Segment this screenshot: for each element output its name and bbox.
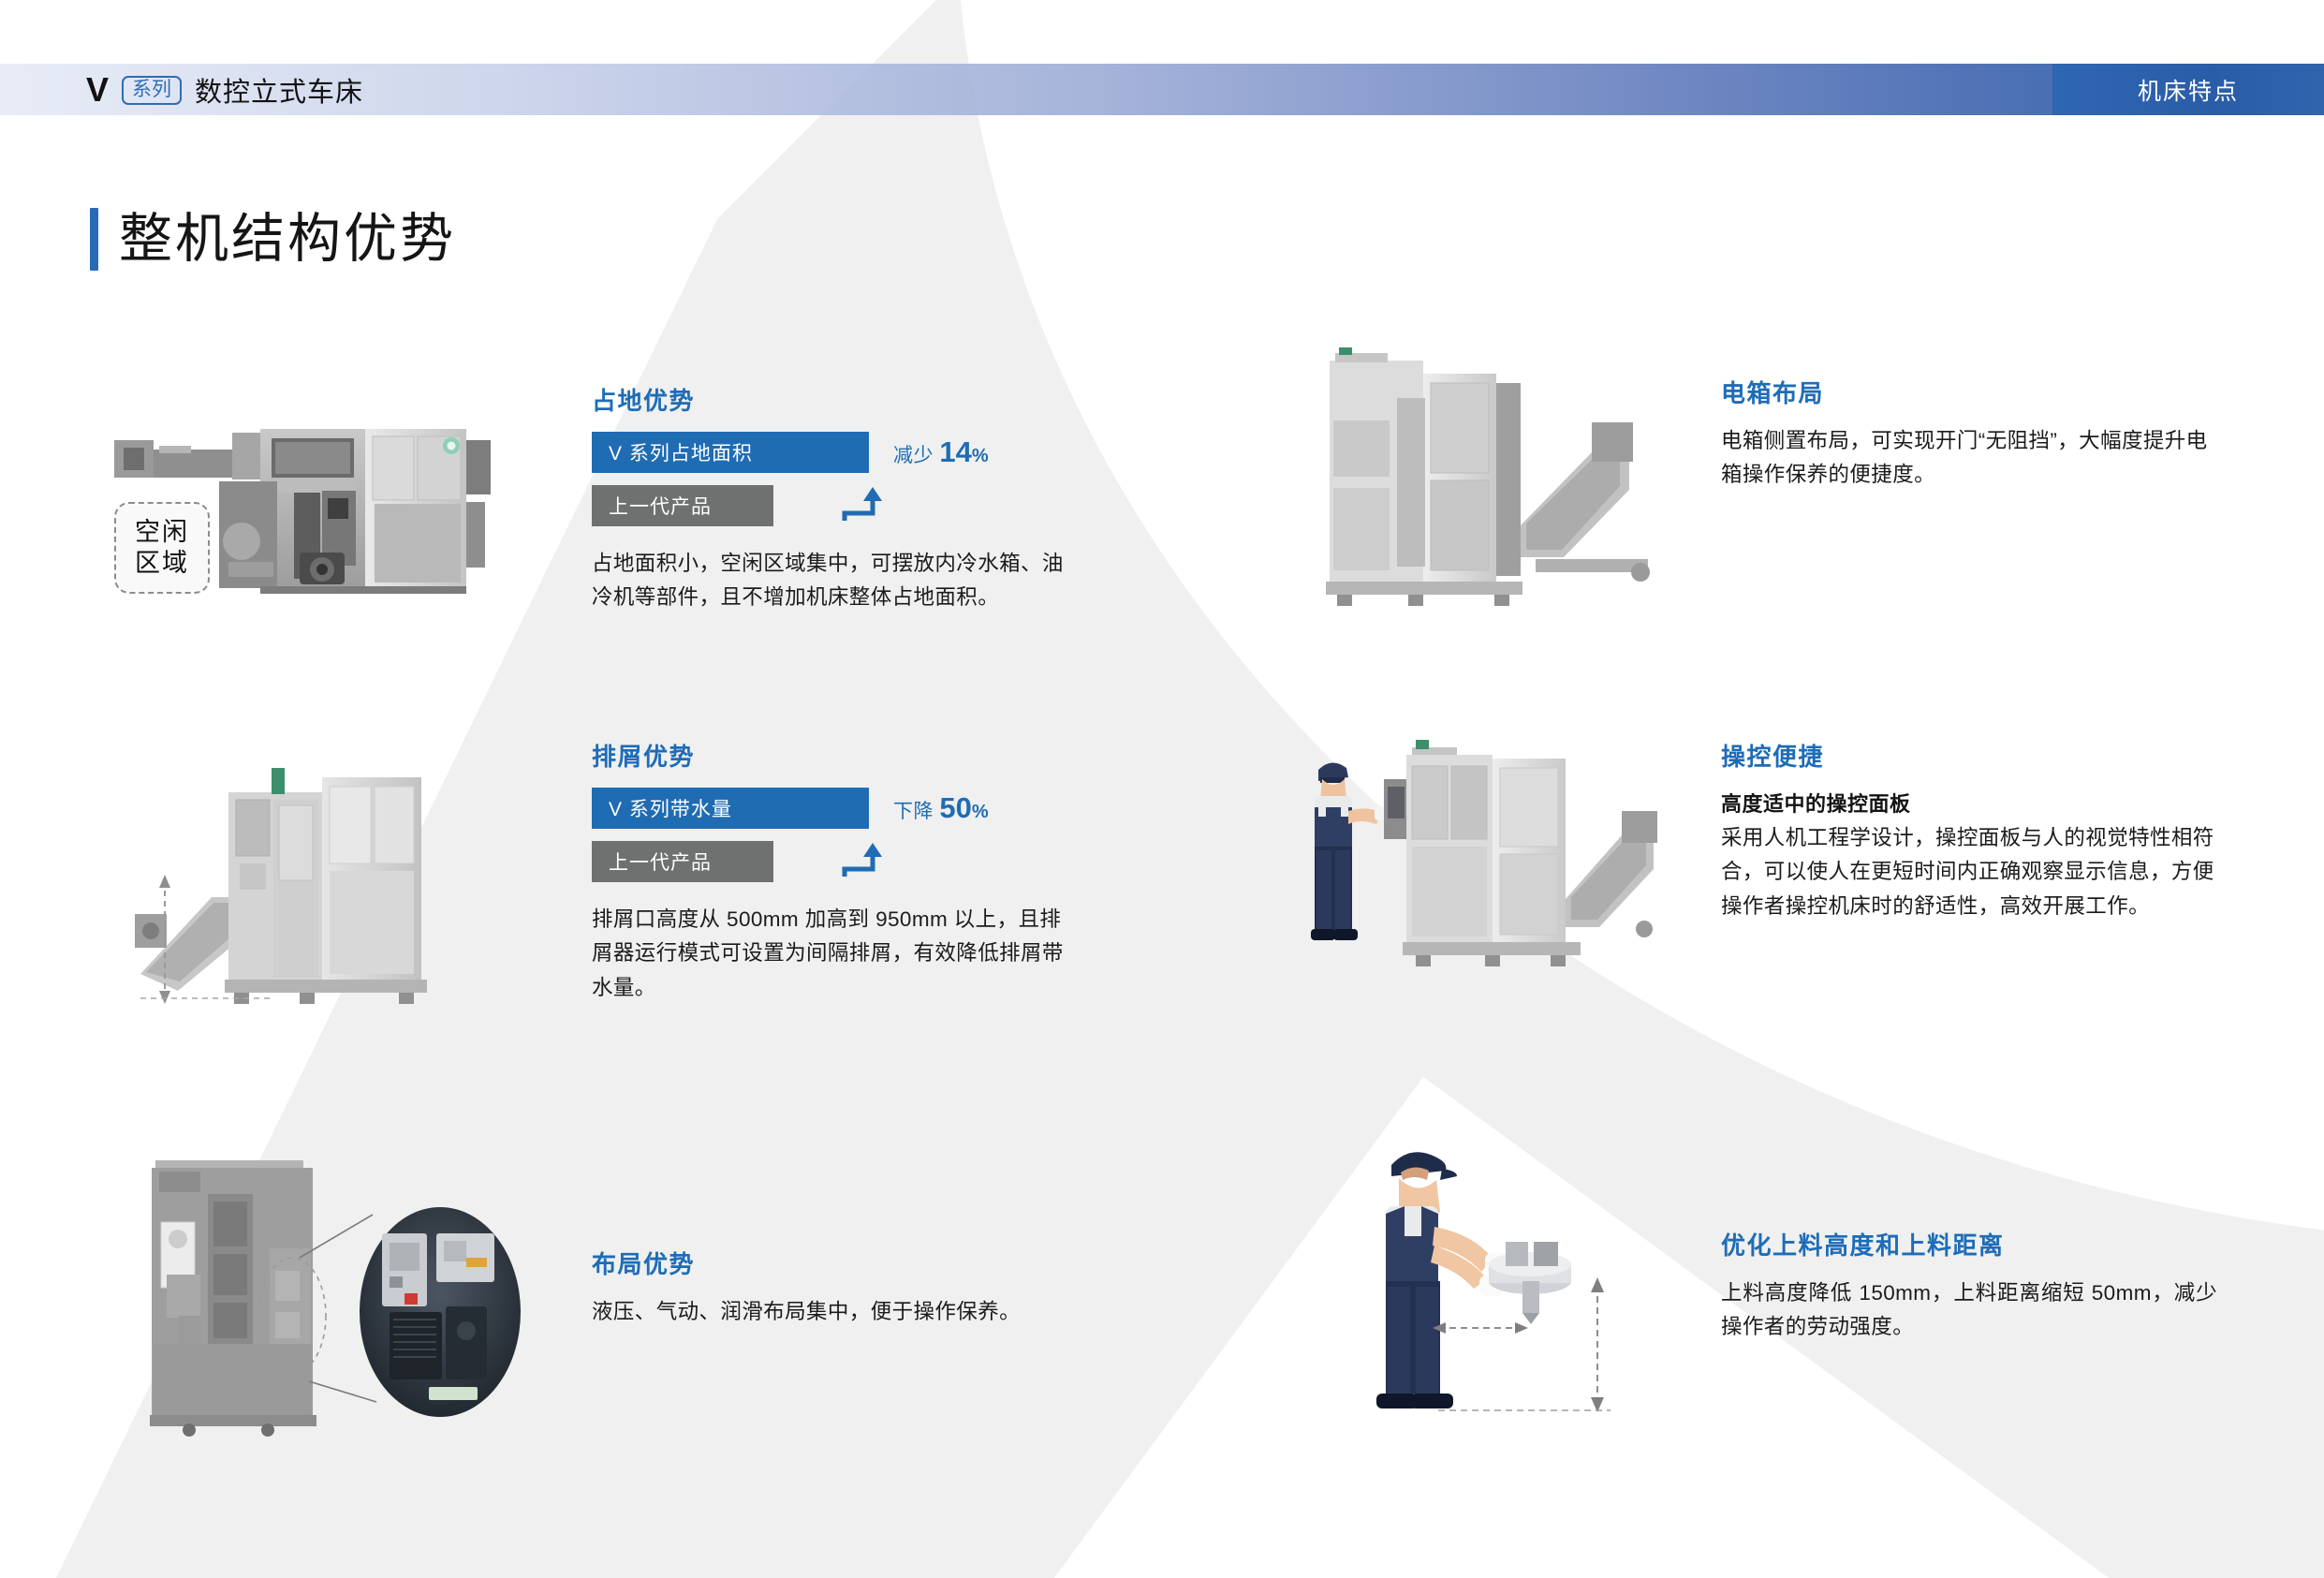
bar-annotation-prefix: 下降 (893, 801, 934, 822)
operator-loading-illustration (1348, 1124, 1685, 1461)
block-layout-body: 液压、气动、润滑布局集中，便于操作保养。 (592, 1295, 1079, 1329)
bar-annotation-unit: % (972, 802, 989, 822)
series-chip: 系列 (122, 76, 182, 105)
page-title: 整机结构优势 (90, 208, 456, 271)
operator-at-panel-illustration (1302, 721, 1676, 1002)
block-footprint: 占地优势 V 系列占地面积 减少 14% 上一代产品 占地面积小，空闲区域集 (592, 382, 1079, 615)
idle-area-callout: 空闲 区域 (114, 502, 210, 594)
block-chip-removal-chart: V 系列带水量 下降 50% 上一代产品 (592, 788, 1079, 882)
block-loading: 优化上料高度和上料距离 上料高度降低 150mm，上料距离缩短 50mm，减少操… (1721, 1227, 2217, 1345)
operator-figure (1311, 762, 1388, 940)
block-loading-heading: 优化上料高度和上料距离 (1721, 1227, 2217, 1261)
machine-cabinet-illustration (1311, 342, 1685, 623)
bar-annotation-prefix: 减少 (893, 445, 934, 466)
bar-annotation-value: 50 (939, 791, 971, 824)
block-electrical-cabinet: 电箱布局 电箱侧置布局，可实现开门“无阻挡”，大幅度提升电箱操作保养的便捷度。 (1721, 375, 2217, 493)
block-operation-body: 采用人机工程学设计，操控面板与人的视觉特性相符合，可以使人在更短时间内正确观察显… (1721, 821, 2217, 923)
block-loading-body: 上料高度降低 150mm，上料距离缩短 50mm，减少操作者的劳动强度。 (1721, 1276, 2217, 1345)
block-layout: 布局优势 液压、气动、润滑布局集中，便于操作保养。 (592, 1246, 1079, 1329)
idle-area-line2: 区域 (135, 548, 189, 579)
page-title-accent-bar (90, 208, 98, 271)
block-footprint-body: 占地面积小，空闲区域集中，可摆放内冷水箱、油冷机等部件，且不增加机床整体占地面积… (592, 547, 1079, 615)
block-operation-heading: 操控便捷 (1721, 738, 2217, 773)
header-brand-group: V 系列 数控立式车床 (86, 66, 363, 114)
block-electrical-cabinet-body: 电箱侧置布局，可实现开门“无阻挡”，大幅度提升电箱操作保养的便捷度。 (1721, 424, 2217, 493)
bar-current: V 系列占地面积 (592, 432, 869, 473)
block-electrical-cabinet-heading: 电箱布局 (1721, 375, 2217, 409)
page-title-text: 整机结构优势 (119, 208, 456, 271)
idle-area-line1: 空闲 (135, 517, 189, 548)
bar-annotation: 下降 50% (893, 791, 989, 825)
block-chip-removal-body: 排屑口高度从 500mm 加高到 950mm 以上，且排屑器运行模式可设置为间隔… (592, 903, 1079, 1005)
improvement-arrow-icon (841, 841, 899, 882)
bar-annotation-unit: % (972, 446, 989, 466)
block-operation-subheading: 高度适中的操控面板 (1721, 788, 2217, 818)
machine-rear-view-illustration (131, 1157, 524, 1438)
bar-annotation-value: 14 (939, 435, 971, 468)
product-title: 数控立式车床 (195, 70, 363, 110)
improvement-arrow-icon (841, 485, 899, 526)
block-layout-heading: 布局优势 (592, 1246, 1079, 1280)
bar-current: V 系列带水量 (592, 788, 869, 829)
block-chip-removal-heading: 排屑优势 (592, 738, 1079, 773)
block-operation: 操控便捷 高度适中的操控面板 采用人机工程学设计，操控面板与人的视觉特性相符合，… (1721, 738, 2217, 923)
chart-row-previous: 上一代产品 (592, 485, 1079, 526)
bar-previous: 上一代产品 (592, 485, 773, 526)
block-chip-removal: 排屑优势 V 系列带水量 下降 50% 上一代产品 排屑口高度从 500mm (592, 738, 1079, 1005)
block-footprint-chart: V 系列占地面积 减少 14% 上一代产品 (592, 432, 1079, 526)
bar-previous: 上一代产品 (592, 841, 773, 882)
block-footprint-heading: 占地优势 (592, 382, 1079, 417)
brand-letter: V (86, 73, 109, 107)
section-tag-label: 机床特点 (2138, 73, 2239, 107)
section-tag-banner: 机床特点 (2052, 64, 2324, 115)
brochure-page: 机床特点 V 系列 数控立式车床 整机结构优势 (0, 0, 2324, 1578)
machine-side-view-illustration (131, 740, 524, 1021)
chart-row-current: V 系列带水量 下降 50% (592, 788, 1079, 829)
chart-row-current: V 系列占地面积 减少 14% (592, 432, 1079, 473)
chart-row-previous: 上一代产品 (592, 841, 1079, 882)
bar-annotation: 减少 14% (893, 435, 989, 469)
